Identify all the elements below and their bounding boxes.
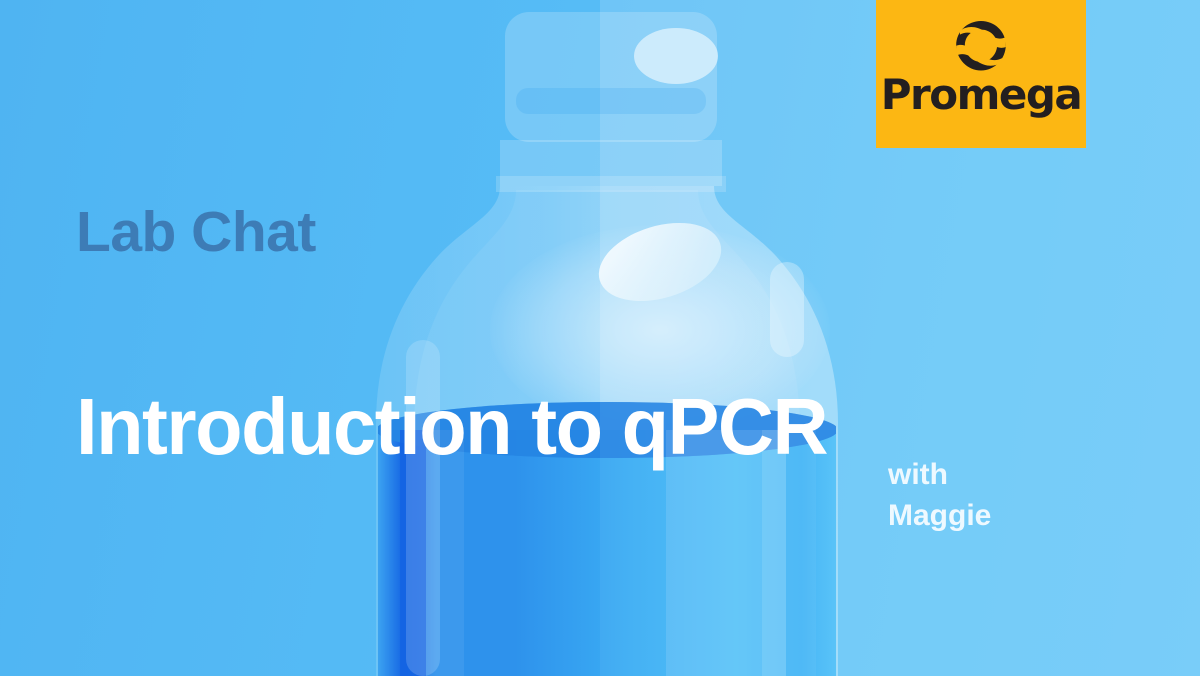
page-title: Introduction to qPCR	[76, 387, 827, 467]
presenter-name: Maggie	[888, 496, 991, 537]
presenter-credit: with Maggie	[888, 455, 991, 536]
promega-logo: Promega	[876, 0, 1086, 148]
bottle-cap-band	[516, 88, 706, 114]
presenter-prefix: with	[888, 455, 991, 496]
bottle-right-gloss	[770, 262, 804, 357]
kicker-label: Lab Chat	[76, 204, 316, 261]
video-thumbnail-slide: Lab Chat Introduction to qPCR with Maggi…	[0, 0, 1200, 676]
bottle-cap-highlight	[634, 28, 718, 84]
promega-infinity-ring-icon	[950, 16, 1012, 78]
promega-wordmark: Promega	[876, 74, 1086, 116]
